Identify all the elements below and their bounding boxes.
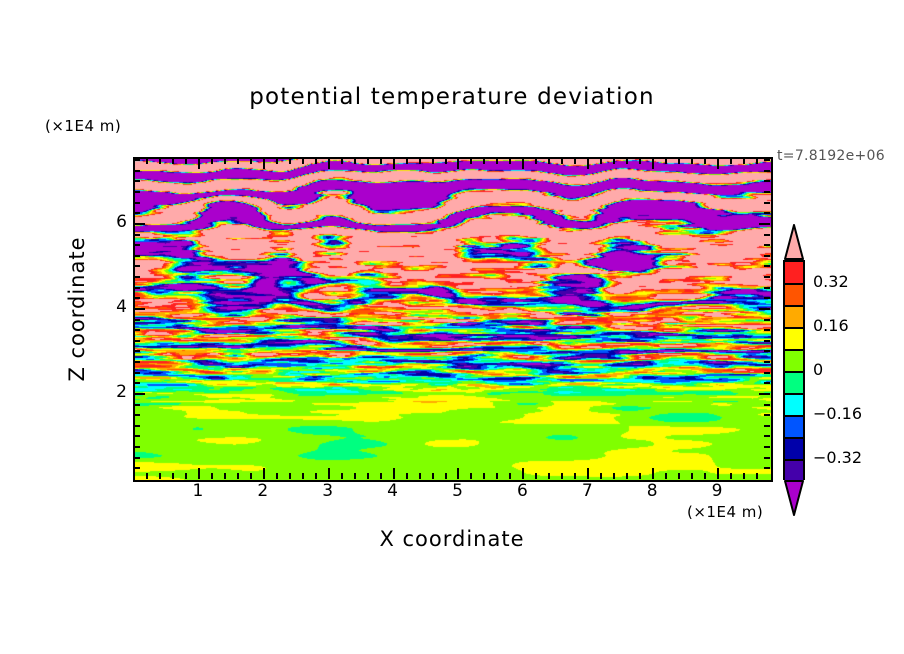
tick-x-bottom	[561, 473, 563, 479]
tick-x-bottom	[470, 473, 472, 479]
tick-x-top	[276, 158, 278, 164]
tick-x-bottom	[406, 473, 408, 479]
tick-x-top	[250, 158, 252, 164]
tick-x-top	[315, 158, 317, 164]
tick-x-bottom	[393, 468, 395, 479]
tick-y-right	[764, 276, 770, 278]
x-tick-label: 9	[702, 481, 732, 501]
tick-y-right	[764, 446, 770, 448]
colorbar-separator	[785, 459, 803, 461]
tick-x-bottom	[302, 473, 304, 479]
tick-y-left	[134, 202, 140, 204]
x-tick-label: 4	[378, 481, 408, 501]
tick-x-top	[393, 158, 395, 169]
tick-x-bottom	[328, 468, 330, 479]
tick-x-bottom	[457, 468, 459, 479]
tick-x-bottom	[535, 473, 537, 479]
tick-x-top	[483, 158, 485, 164]
tick-x-top	[457, 158, 459, 169]
colorbar-separator	[785, 305, 803, 307]
tick-y-right	[764, 180, 770, 182]
tick-x-top	[548, 158, 550, 164]
tick-y-right	[764, 372, 770, 374]
tick-x-bottom	[548, 473, 550, 479]
page-title: potential temperature deviation	[0, 84, 904, 110]
contour-field	[135, 159, 771, 480]
tick-x-bottom	[276, 473, 278, 479]
tick-x-top	[263, 158, 265, 169]
tick-y-right	[764, 255, 770, 257]
tick-x-top	[652, 158, 654, 169]
x-tick-label: 6	[507, 481, 537, 501]
tick-y-left	[134, 297, 140, 299]
tick-x-bottom	[665, 473, 667, 479]
tick-x-bottom	[587, 468, 589, 479]
tick-x-top	[159, 158, 161, 164]
tick-x-bottom	[639, 473, 641, 479]
tick-x-bottom	[172, 473, 174, 479]
colorbar-tick-label: 0	[813, 360, 823, 379]
tick-x-bottom	[432, 473, 434, 479]
colorbar-band	[785, 350, 803, 372]
tick-x-bottom	[185, 473, 187, 479]
tick-y-right	[764, 467, 770, 469]
tick-y-right	[764, 329, 770, 331]
tick-x-top	[509, 158, 511, 164]
tick-y-right	[764, 414, 770, 416]
x-tick-label: 1	[183, 481, 213, 501]
tick-y-left	[134, 414, 140, 416]
tick-y-left	[134, 287, 140, 289]
tick-x-top	[535, 158, 537, 164]
colorbar-tick-label: 0.16	[813, 316, 849, 335]
tick-y-left	[134, 234, 140, 236]
tick-x-bottom	[743, 473, 745, 479]
colorbar-under-arrow	[783, 480, 805, 516]
colorbar-band	[785, 284, 803, 306]
tick-y-left	[134, 425, 140, 427]
tick-x-top	[496, 158, 498, 164]
tick-x-top	[380, 158, 382, 164]
colorbar-band	[785, 306, 803, 328]
tick-x-top	[743, 158, 745, 164]
tick-y-left	[134, 159, 140, 161]
tick-x-bottom	[509, 473, 511, 479]
x-tick-label: 2	[248, 481, 278, 501]
tick-x-bottom	[250, 473, 252, 479]
tick-x-top	[237, 158, 239, 164]
tick-y-right	[764, 319, 770, 321]
tick-y-right	[764, 212, 770, 214]
tick-y-right	[759, 223, 770, 225]
y-tick-label: 6	[97, 212, 127, 232]
tick-x-bottom	[237, 473, 239, 479]
tick-y-right	[764, 340, 770, 342]
x-tick-label: 7	[572, 481, 602, 501]
tick-y-left	[134, 404, 140, 406]
tick-x-top	[432, 158, 434, 164]
tick-y-left	[134, 382, 140, 384]
tick-y-left	[134, 361, 140, 363]
colorbar-tick-label: 0.32	[813, 272, 849, 291]
tick-x-bottom	[159, 473, 161, 479]
tick-y-left	[134, 446, 140, 448]
x-tick-label: 3	[313, 481, 343, 501]
colorbar-separator	[785, 283, 803, 285]
tick-x-bottom	[289, 473, 291, 479]
tick-y-right	[764, 382, 770, 384]
tick-y-right	[759, 308, 770, 310]
tick-x-top	[328, 158, 330, 169]
tick-y-right	[764, 404, 770, 406]
tick-y-left	[134, 340, 140, 342]
tick-x-bottom	[354, 473, 356, 479]
tick-x-top	[146, 158, 148, 164]
tick-x-bottom	[652, 468, 654, 479]
timestamp-annotation: t=7.8192e+06	[777, 148, 885, 164]
colorbar-tick-label: −0.16	[813, 404, 862, 423]
tick-x-bottom	[626, 473, 628, 479]
x-axis-unit-label: (×1E4 m)	[687, 503, 763, 521]
tick-x-top	[756, 158, 758, 164]
colorbar-band	[785, 372, 803, 394]
tick-y-left	[134, 329, 140, 331]
tick-x-bottom	[445, 473, 447, 479]
tick-x-top	[302, 158, 304, 164]
tick-x-bottom	[717, 468, 719, 479]
tick-y-left	[134, 244, 140, 246]
tick-x-bottom	[380, 473, 382, 479]
tick-y-right	[764, 202, 770, 204]
colorbar-separator	[785, 327, 803, 329]
tick-y-left	[134, 467, 140, 469]
tick-x-bottom	[419, 473, 421, 479]
tick-y-right	[764, 191, 770, 193]
tick-x-top	[470, 158, 472, 164]
tick-x-bottom	[263, 468, 265, 479]
tick-x-top	[224, 158, 226, 164]
tick-x-bottom	[691, 473, 693, 479]
tick-x-top	[561, 158, 563, 164]
tick-y-left	[134, 180, 140, 182]
tick-x-top	[704, 158, 706, 164]
tick-x-top	[354, 158, 356, 164]
x-tick-label: 8	[637, 481, 667, 501]
tick-y-left	[134, 372, 140, 374]
colorbar-tick-label: −0.32	[813, 448, 862, 467]
tick-y-right	[764, 435, 770, 437]
tick-x-top	[639, 158, 641, 164]
tick-x-bottom	[198, 468, 200, 479]
tick-x-bottom	[574, 473, 576, 479]
tick-y-right	[764, 287, 770, 289]
colorbar-band	[785, 262, 803, 284]
tick-x-top	[419, 158, 421, 164]
tick-x-top	[730, 158, 732, 164]
tick-y-left	[134, 319, 140, 321]
tick-x-bottom	[600, 473, 602, 479]
tick-y-left	[134, 350, 140, 352]
colorbar-band	[785, 438, 803, 460]
tick-y-left	[134, 457, 140, 459]
tick-y-left	[134, 212, 140, 214]
tick-x-top	[691, 158, 693, 164]
tick-x-bottom	[341, 473, 343, 479]
tick-y-left	[134, 435, 140, 437]
colorbar-band	[785, 328, 803, 350]
colorbar-band	[785, 460, 803, 482]
tick-y-right	[764, 361, 770, 363]
tick-x-top	[406, 158, 408, 164]
colorbar-separator	[785, 349, 803, 351]
tick-y-right	[764, 234, 770, 236]
tick-y-left	[134, 191, 140, 193]
tick-x-top	[172, 158, 174, 164]
colorbar-band	[785, 394, 803, 416]
colorbar-separator	[785, 415, 803, 417]
tick-x-top	[600, 158, 602, 164]
tick-x-top	[522, 158, 524, 169]
tick-y-right	[764, 297, 770, 299]
tick-y-right	[764, 170, 770, 172]
tick-x-top	[185, 158, 187, 164]
tick-x-top	[367, 158, 369, 164]
tick-y-right	[764, 159, 770, 161]
tick-y-right	[764, 425, 770, 427]
tick-y-right	[759, 393, 770, 395]
tick-x-bottom	[224, 473, 226, 479]
tick-x-top	[613, 158, 615, 164]
tick-y-left	[134, 265, 140, 267]
tick-x-bottom	[678, 473, 680, 479]
tick-x-top	[587, 158, 589, 169]
tick-x-top	[678, 158, 680, 164]
tick-x-bottom	[704, 473, 706, 479]
z-axis-unit-label: (×1E4 m)	[45, 117, 121, 135]
tick-x-bottom	[496, 473, 498, 479]
colorbar-bands	[783, 260, 805, 480]
y-tick-label: 2	[97, 382, 127, 402]
tick-x-bottom	[730, 473, 732, 479]
tick-x-bottom	[367, 473, 369, 479]
tick-y-left	[134, 255, 140, 257]
plot-area	[133, 157, 773, 482]
tick-x-bottom	[211, 473, 213, 479]
tick-y-left	[134, 276, 140, 278]
tick-x-bottom	[756, 473, 758, 479]
tick-y-left	[134, 393, 145, 395]
tick-x-top	[717, 158, 719, 169]
x-tick-label: 5	[442, 481, 472, 501]
y-tick-label: 4	[97, 297, 127, 317]
colorbar-separator	[785, 393, 803, 395]
tick-y-left	[134, 170, 140, 172]
z-axis-title: Z coordinate	[65, 214, 89, 404]
colorbar-over-arrow	[783, 224, 805, 260]
colorbar-band	[785, 416, 803, 438]
tick-x-top	[665, 158, 667, 164]
tick-x-bottom	[315, 473, 317, 479]
tick-x-top	[626, 158, 628, 164]
tick-x-top	[289, 158, 291, 164]
x-axis-title: X coordinate	[0, 527, 904, 551]
tick-y-left	[134, 308, 145, 310]
figure-canvas: potential temperature deviation (×1E4 m)…	[0, 0, 904, 654]
tick-x-top	[341, 158, 343, 164]
tick-x-bottom	[483, 473, 485, 479]
tick-x-top	[574, 158, 576, 164]
colorbar-separator	[785, 437, 803, 439]
tick-y-right	[764, 350, 770, 352]
colorbar-separator	[785, 371, 803, 373]
tick-x-bottom	[146, 473, 148, 479]
colorbar: 0.320.160−0.16−0.32	[783, 224, 807, 516]
tick-y-right	[764, 457, 770, 459]
tick-x-top	[445, 158, 447, 164]
tick-x-bottom	[522, 468, 524, 479]
tick-y-right	[764, 244, 770, 246]
tick-x-top	[211, 158, 213, 164]
tick-y-left	[134, 223, 145, 225]
tick-y-right	[764, 265, 770, 267]
tick-x-bottom	[613, 473, 615, 479]
tick-x-top	[198, 158, 200, 169]
